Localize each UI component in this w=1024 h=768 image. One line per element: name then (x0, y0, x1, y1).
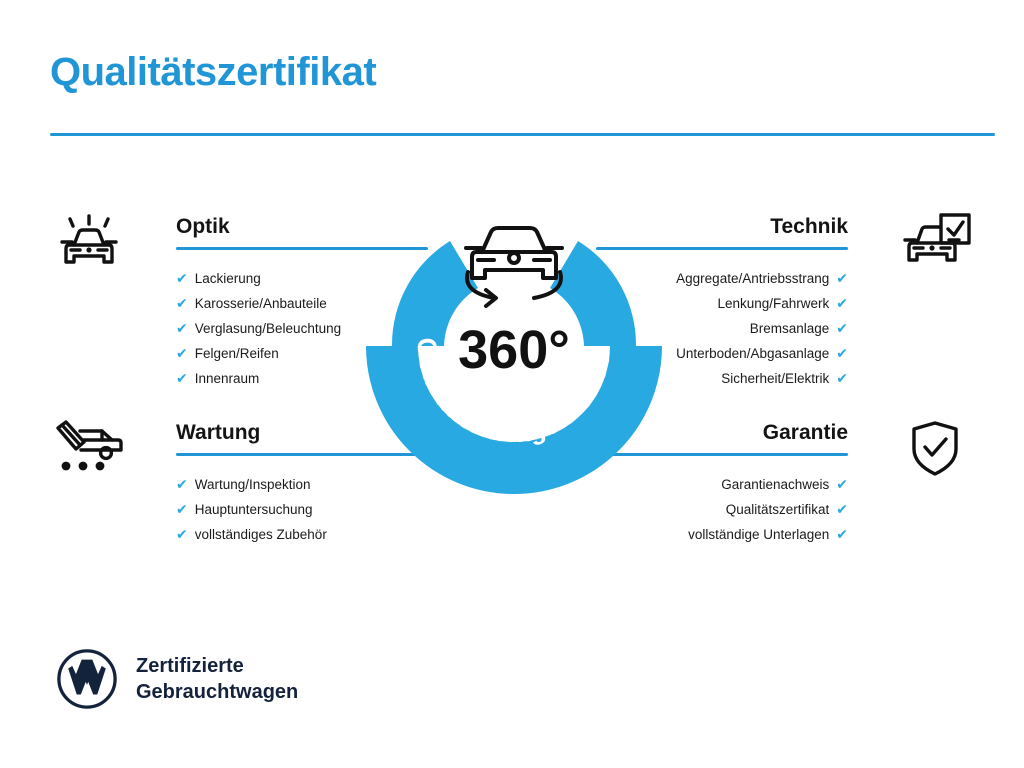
vw-footer-lockup: Zertifizierte Gebrauchtwagen (56, 648, 298, 710)
badge-center-label: 360° (458, 320, 570, 380)
list-item-label: Qualitätszertifikat (726, 502, 830, 517)
header-divider (50, 133, 995, 136)
list-item-label: Felgen/Reifen (195, 346, 279, 361)
list-item-label: Garantienachweis (721, 477, 829, 492)
list-item: vollständige Unterlagen✔ (596, 522, 848, 547)
check-icon: ✔ (176, 501, 188, 517)
certificate-page: Qualitätszertifikat Optik (0, 0, 1024, 768)
list-item-label: Lenkung/Fahrwerk (717, 296, 829, 311)
list-item-label: Lackierung (195, 271, 261, 286)
check-icon: ✔ (836, 345, 848, 361)
list-item-label: Hauptuntersuchung (195, 502, 313, 517)
list-item-label: vollständiges Zubehör (195, 527, 327, 542)
check-icon: ✔ (176, 476, 188, 492)
list-item-label: vollständige Unterlagen (688, 527, 829, 542)
check-icon: ✔ (836, 270, 848, 286)
check-icon: ✔ (176, 320, 188, 336)
vw-logo-icon (56, 648, 118, 710)
list-item-label: Bremsanlage (750, 321, 830, 336)
car-shine-icon (50, 212, 128, 274)
car-service-pen-icon (50, 418, 128, 480)
list-item: Qualitätszertifikat✔ (596, 497, 848, 522)
check-icon: ✔ (176, 526, 188, 542)
check-icon: ✔ (176, 345, 188, 361)
check-icon: ✔ (836, 526, 848, 542)
check-icon: ✔ (836, 501, 848, 517)
car-rotate-icon (466, 228, 562, 306)
badge-360-gebrauchtwagen-check: Gebrauchtwagen-Check 360° (374, 196, 654, 496)
vw-lockup-line2: Gebrauchtwagen (136, 679, 298, 705)
shield-check-icon (896, 418, 974, 480)
list-item-label: Wartung/Inspektion (195, 477, 311, 492)
list-item-label: Sicherheit/Elektrik (721, 371, 829, 386)
list-item-label: Innenraum (195, 371, 260, 386)
check-icon: ✔ (836, 320, 848, 336)
list-item: ✔Hauptuntersuchung (176, 497, 428, 522)
check-icon: ✔ (176, 270, 188, 286)
check-icon: ✔ (176, 370, 188, 386)
vw-lockup-line1: Zertifizierte (136, 653, 298, 679)
page-title: Qualitätszertifikat (50, 52, 376, 92)
vw-lockup-text: Zertifizierte Gebrauchtwagen (136, 653, 298, 705)
check-icon: ✔ (836, 295, 848, 311)
list-item-label: Verglasung/Beleuchtung (195, 321, 341, 336)
check-icon: ✔ (836, 370, 848, 386)
check-icon: ✔ (176, 295, 188, 311)
list-item-label: Karosserie/Anbauteile (195, 296, 327, 311)
list-item: ✔vollständiges Zubehör (176, 522, 428, 547)
check-icon: ✔ (836, 476, 848, 492)
car-checkbox-icon (896, 212, 974, 274)
list-item-label: Unterboden/Abgasanlage (676, 346, 829, 361)
list-item-label: Aggregate/Antriebsstrang (676, 271, 829, 286)
